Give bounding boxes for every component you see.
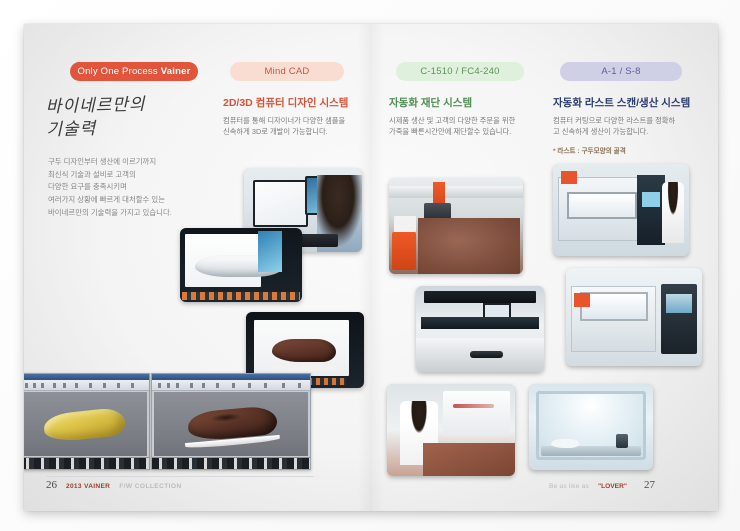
badge-a1-s8[interactable]: A-1 / S-8: [560, 62, 682, 81]
photo-cutting-machine-gantry-scene: [416, 286, 544, 372]
photo-monitor-last-model: [180, 228, 302, 302]
cad-window-last-yellow[interactable]: [24, 373, 150, 470]
badge-mind-cad[interactable]: Mind CAD: [230, 62, 344, 81]
footer-left: 26 2013 VAINER F/W COLLECTION: [46, 479, 182, 491]
footer-keyword: "LOVER": [598, 483, 627, 490]
column-last-scan-heading: 자동화 라스트 스캔/생산 시스템: [553, 97, 713, 110]
badge-c1510-fc4240-text: C-1510 / FC4-240: [420, 66, 499, 77]
viewport: Only One Process Vainer Mind CAD C-1510 …: [0, 0, 740, 531]
footer-left-rule: [46, 476, 314, 477]
badge-only-one-process-brand: Vainer: [161, 66, 191, 77]
column-cad-design-body: 컴퓨터를 통해 디자이너가 다양한 샘플을 신속하게 3D로 개발이 가능합니다…: [223, 115, 371, 138]
page-number-left: 26: [46, 479, 57, 491]
column-last-scan-body: 컴퓨터 커팅으로 다양한 라스트를 정확하 고 신속하게 생산이 가능합니다.: [553, 115, 713, 138]
badge-mind-cad-text: Mind CAD: [265, 66, 310, 77]
column-cad-design-heading: 2D/3D 컴퓨터 디자인 시스템: [223, 97, 371, 110]
photo-cnc-machine-console-scene: [566, 268, 702, 366]
cad-window-shoe-brown[interactable]: [151, 373, 311, 470]
cad-model-last-yellow: [42, 407, 125, 443]
photo-cutting-machine-gantry: [416, 286, 544, 372]
brochure-spread: Only One Process Vainer Mind CAD C-1510 …: [24, 24, 718, 511]
column-auto-cutting: 자동화 재단 시스템 시제품 생산 및 고객의 다양한 주문을 위한 가죽을 빠…: [389, 97, 541, 137]
intro-headline: 바이네르만의 기술력: [45, 92, 216, 142]
column-auto-cutting-body: 시제품 생산 및 고객의 다양한 주문을 위한 가죽을 빠른시간안에 재단할수 …: [389, 115, 541, 138]
column-cad-design: 2D/3D 컴퓨터 디자인 시스템 컴퓨터를 통해 디자이너가 다양한 샘플을 …: [223, 97, 371, 137]
column-last-scan: 자동화 라스트 스캔/생산 시스템 컴퓨터 커팅으로 다양한 라스트를 정확하 …: [553, 97, 713, 155]
page-number-right: 27: [644, 479, 655, 491]
cad-window-last-yellow-toolbar[interactable]: [24, 380, 149, 391]
cad-window-last-yellow-canvas[interactable]: [24, 392, 147, 456]
photo-operator-at-cutter: [387, 384, 515, 476]
cad-window-last-yellow-statusbar[interactable]: [24, 457, 149, 469]
photo-cutting-head-leather: [389, 178, 523, 274]
cad-window-shoe-brown-toolbar[interactable]: [152, 380, 310, 391]
photo-cnc-interior-spindle: [529, 384, 653, 470]
photo-monitor-last-model-scene: [180, 228, 302, 302]
photo-operator-at-cutter-scene: [387, 384, 515, 476]
note-star-icon: *: [553, 148, 556, 155]
column-auto-cutting-heading: 자동화 재단 시스템: [389, 97, 541, 110]
badge-only-one-process-text: Only One Process: [77, 66, 157, 77]
column-last-scan-note-text: 라스트 : 구두모양의 골격: [557, 148, 625, 155]
photo-cnc-interior-spindle-scene: [529, 384, 653, 470]
photo-cnc-cell-operator: [553, 164, 689, 256]
footer-collection: F/W COLLECTION: [119, 483, 181, 490]
photo-cnc-machine-console: [566, 268, 702, 366]
badge-c1510-fc4240[interactable]: C-1510 / FC4-240: [396, 62, 524, 81]
photo-cutting-head-leather-scene: [389, 178, 523, 274]
cad-window-shoe-brown-statusbar[interactable]: [152, 457, 310, 469]
photo-cnc-cell-operator-scene: [553, 164, 689, 256]
column-last-scan-note: * 라스트 : 구두모양의 골격: [553, 145, 713, 155]
footer-brand: 2013 VAINER: [66, 483, 110, 490]
footer-right: Be as like as "LOVER" 27: [549, 479, 655, 491]
footer-tagline: Be as like as: [549, 483, 589, 490]
intro-body: 구두 디자인부터 생산에 이르기까지 최신식 기술과 설비로 고객의 다양한 요…: [48, 156, 208, 220]
badge-only-one-process[interactable]: Only One Process Vainer: [70, 62, 198, 81]
cad-window-shoe-brown-canvas[interactable]: [154, 392, 308, 456]
badge-a1-s8-text: A-1 / S-8: [601, 66, 640, 77]
